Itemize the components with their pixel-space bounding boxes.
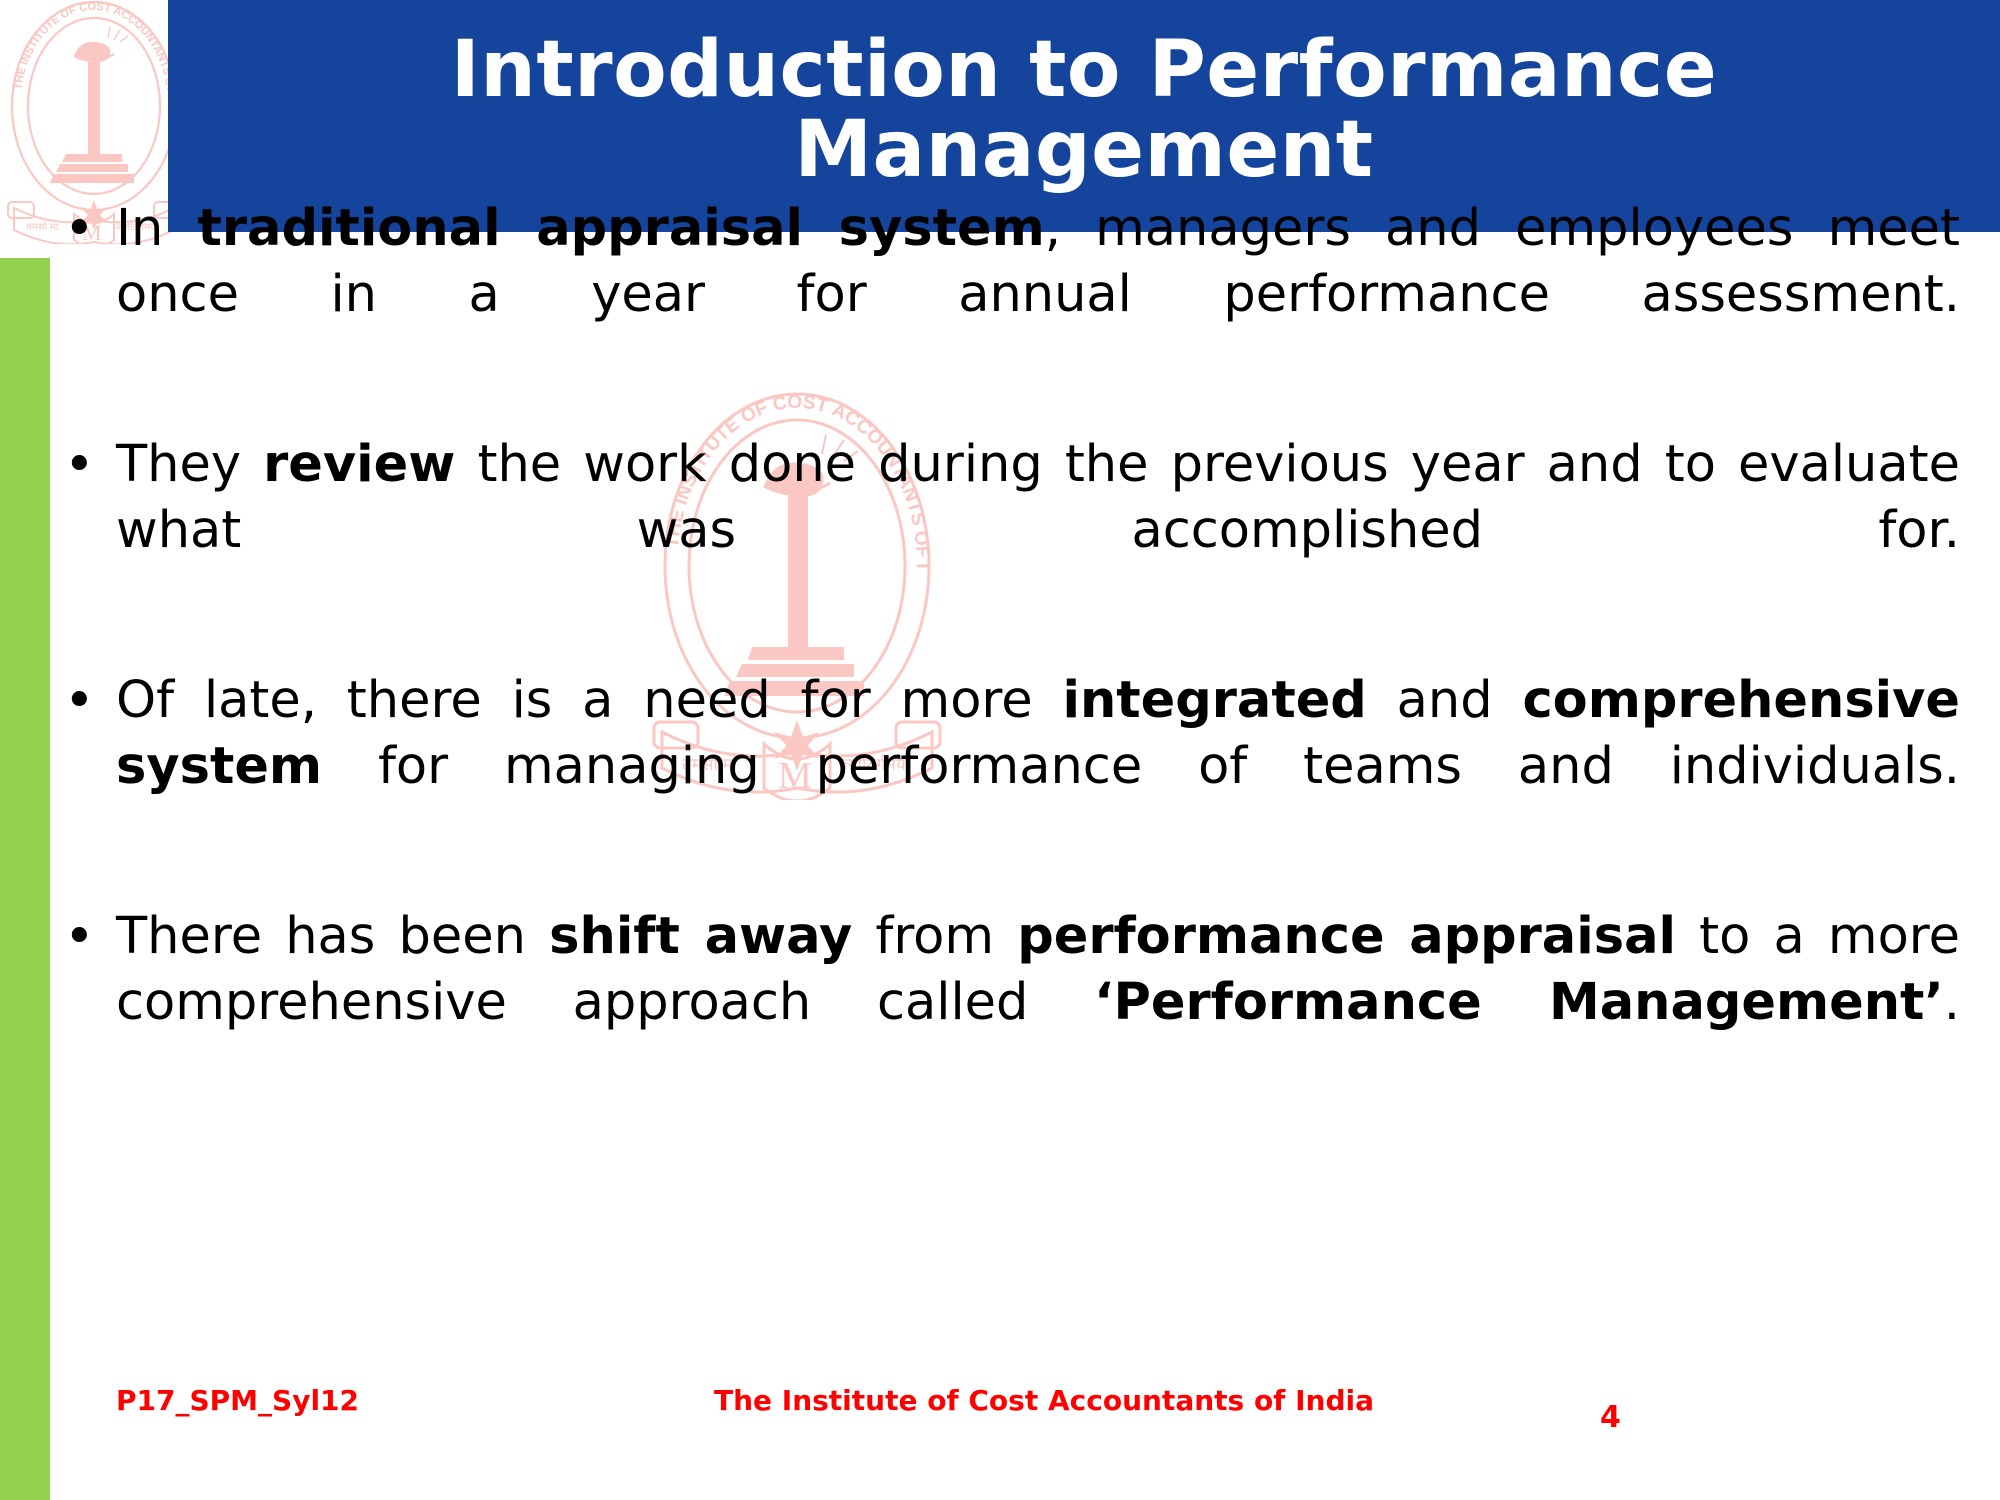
bullet-text: In traditional appraisal system, manager… [116, 196, 1960, 394]
page-title: Introduction to Performance Management [451, 31, 1717, 190]
bullet-marker-icon: • [56, 668, 116, 734]
bullet-text: Of late, there is a need for more integr… [116, 668, 1960, 866]
slide-footer: P17_SPM_Syl12 The Institute of Cost Acco… [0, 1378, 2000, 1438]
emphasis-run: traditional appraisal system [198, 199, 1045, 258]
bullet-marker-icon: • [56, 904, 116, 970]
bullet-item: • Of late, there is a need for more inte… [56, 668, 1960, 866]
svg-text:THE INSTITUTE OF COST ACCOUNTA: THE INSTITUTE OF COST ACCOUNTANTS OF IND… [4, 0, 177, 108]
slide-canvas: THE INSTITUTE OF COST ACCOUNTANTS OF IND… [0, 0, 2000, 1500]
watermark-motto-left: तमसो मा [26, 221, 59, 233]
emphasis-run: performance appraisal [1017, 907, 1676, 966]
emphasis-run: ‘Performance Management’ [1094, 973, 1944, 1032]
emphasis-run: shift away [549, 907, 852, 966]
emphasis-run: integrated [1062, 671, 1366, 730]
text-run: They [116, 435, 263, 494]
text-run: . [1944, 973, 1960, 1032]
text-run: In [116, 199, 198, 258]
text-run: for managing performance of teams and in… [322, 737, 1960, 796]
footer-institute-name: The Institute of Cost Accountants of Ind… [714, 1384, 1374, 1417]
text-run: There has been [116, 907, 549, 966]
text-run: Of late, there is a need for more [116, 671, 1062, 730]
bullet-text: There has been shift away from performan… [116, 904, 1960, 1102]
watermark-ring-text: THE INSTITUTE OF COST ACCOUNTANTS OF IND… [4, 0, 177, 108]
bullet-text: They review the work done during the pre… [116, 432, 1960, 630]
footer-subject-code: P17_SPM_Syl12 [116, 1384, 359, 1417]
bullet-item: • There has been shift away from perform… [56, 904, 1960, 1102]
bullet-marker-icon: • [56, 432, 116, 498]
text-run: from [852, 907, 1017, 966]
emphasis-run: review [263, 435, 455, 494]
left-accent-bar [0, 258, 50, 1500]
text-run: and [1367, 671, 1523, 730]
bullet-marker-icon: • [56, 196, 116, 262]
page-number: 4 [1600, 1400, 1621, 1435]
bullet-item: • They review the work done during the p… [56, 432, 1960, 630]
slide-body: • In traditional appraisal system, manag… [56, 196, 1960, 1102]
bullet-item: • In traditional appraisal system, manag… [56, 196, 1960, 394]
